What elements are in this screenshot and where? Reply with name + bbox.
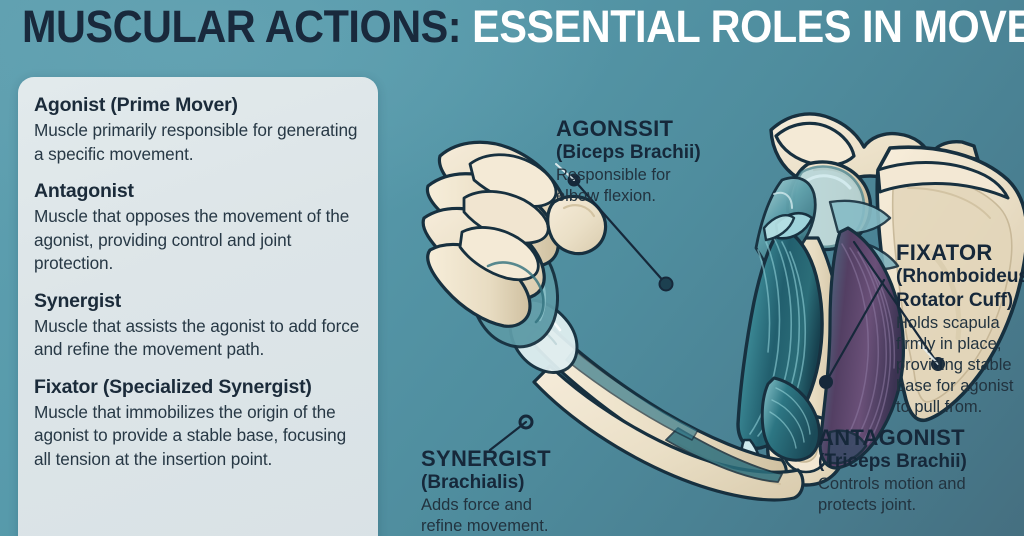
callout-antagonist-subtitle: (Triceps Brachii) [818,450,983,474]
callout-synergist-title: SYNERGIST [421,446,561,471]
callout-agonist-title: AGONSSIT [556,116,701,141]
title-light-part: ESSENTIAL ROLES IN MOVEMENT [472,1,1024,52]
callout-agonist-subtitle: (Biceps Brachii) [556,141,701,165]
callout-agonist: AGONSSIT (Biceps Brachii) Responsible fo… [556,116,701,207]
definition-item-fixator: Fixator (Specialized Synergist) Muscle t… [34,375,360,472]
callout-fixator: FIXATOR (Rhomboideus Rotator Cuff) Holds… [896,240,1024,418]
callout-synergist: SYNERGIST (Brachialis) Adds force and re… [421,446,561,536]
callout-antagonist-description: Controls motion and protects joint. [818,474,983,516]
definition-term: Synergist [34,289,360,314]
callout-antagonist-title: ANTAGONIST [818,425,983,450]
definition-term: Antagonist [34,179,360,204]
callout-antagonist: ANTAGONIST (Triceps Brachii) Controls mo… [818,425,983,516]
callout-agonist-description: Responsible for elbow flexion. [556,165,686,207]
callout-fixator-subtitle-line1: (Rhomboideus [896,265,1024,289]
definition-item-synergist: Synergist Muscle that assists the agonis… [34,289,360,362]
definition-description: Muscle that opposes the movement of the … [34,205,360,276]
title-dark-part: MUSCULAR ACTIONS: [22,1,461,52]
page-title: MUSCULAR ACTIONS: ESSENTIAL ROLES IN MOV… [22,2,933,52]
callout-synergist-description: Adds force and refine movement. [421,495,561,536]
definition-item-antagonist: Antagonist Muscle that opposes the movem… [34,179,360,276]
definition-term: Fixator (Specialized Synergist) [34,375,360,400]
definition-description: Muscle primarily responsible for generat… [34,119,360,166]
callout-fixator-description: Holds scapula firmly in place, providing… [896,313,1024,418]
callout-synergist-subtitle: (Brachialis) [421,471,561,495]
definition-term: Agonist (Prime Mover) [34,93,360,118]
infographic-canvas: MUSCULAR ACTIONS: ESSENTIAL ROLES IN MOV… [0,0,1024,536]
callout-fixator-subtitle-line2: Rotator Cuff) [896,289,1024,313]
definitions-card: Agonist (Prime Mover) Muscle primarily r… [18,77,378,536]
definition-item-agonist: Agonist (Prime Mover) Muscle primarily r… [34,93,360,166]
callout-fixator-title: FIXATOR [896,240,1024,265]
definition-description: Muscle that immobilizes the origin of th… [34,401,360,472]
definition-description: Muscle that assists the agonist to add f… [34,315,360,362]
